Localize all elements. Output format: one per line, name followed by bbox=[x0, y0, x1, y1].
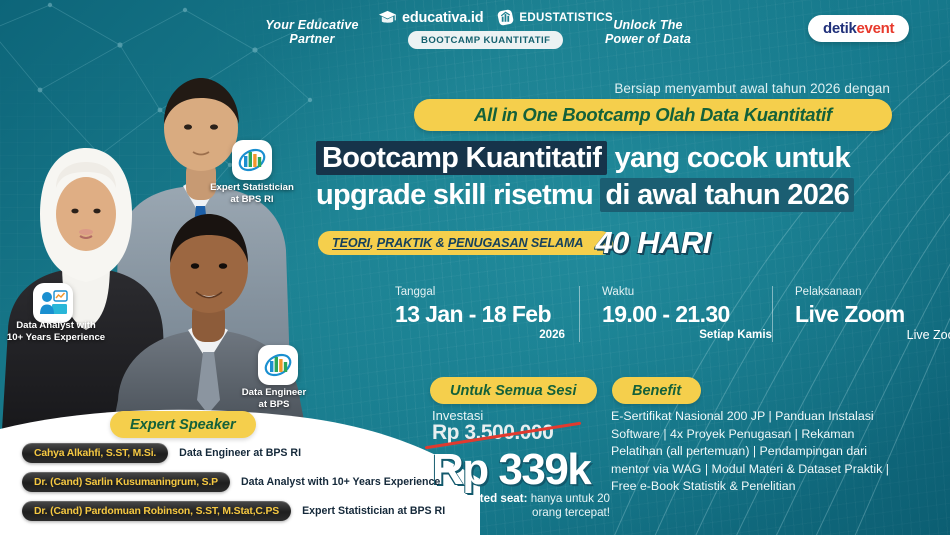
speaker-name: Dr. (Cand) Pardomuan Robinson, S.ST, M.S… bbox=[22, 501, 291, 521]
speaker-list: Cahya Alkahfi, S.ST, M.Si. Data Engineer… bbox=[22, 443, 442, 530]
data-analyst-icon bbox=[33, 283, 73, 323]
info-value-platform: Live Zoom bbox=[795, 301, 950, 327]
bps-logo-glyph bbox=[237, 145, 267, 175]
headline-part-2: yang cocok untuk bbox=[615, 142, 850, 174]
graduation-cap-icon bbox=[378, 8, 397, 27]
duration-sep-2: & bbox=[432, 236, 448, 250]
speaker-role: Expert Statistician at BPS RI bbox=[302, 505, 445, 517]
bps-logo-icon bbox=[258, 345, 298, 385]
speaker-role: Data Analyst with 10+ Years Experience bbox=[241, 476, 440, 488]
poster-header: Your Educative Partner educativa.id bbox=[0, 0, 950, 58]
info-label-platform: Pelaksanaan bbox=[795, 286, 950, 298]
info-value-date: 13 Jan - 18 Feb bbox=[395, 301, 565, 327]
info-sub-time: Setiap Kamis bbox=[602, 328, 772, 341]
speaker-role: Data Engineer at BPS RI bbox=[179, 447, 301, 459]
brand-educativa: educativa.id bbox=[378, 8, 483, 27]
event-info-row: Tanggal 13 Jan - 18 Feb 2026 Waktu 19.00… bbox=[395, 286, 915, 342]
speaker-row: Dr. (Cand) Pardomuan Robinson, S.ST, M.S… bbox=[22, 501, 442, 521]
duration-word-penugasan: PENUGASAN bbox=[448, 236, 528, 250]
new-price: Rp 339k bbox=[432, 445, 590, 495]
duration-selama: SELAMA bbox=[527, 236, 583, 250]
speaker-name: Cahya Alkahfi, S.ST, M.Si. bbox=[22, 443, 168, 463]
info-label-time: Waktu bbox=[602, 286, 772, 298]
speaker-portraits bbox=[0, 0, 380, 430]
info-col-time: Waktu 19.00 - 21.30 Setiap Kamis bbox=[579, 286, 772, 342]
info-sub-date: 2026 bbox=[395, 328, 565, 341]
duration-word-teori: TEORI bbox=[332, 236, 370, 250]
benefit-list: E-Sertifikat Nasional 200 JP | Panduan I… bbox=[611, 408, 903, 496]
limited-seat-note: Limited seat: hanya untuk 20 orang terce… bbox=[430, 492, 610, 520]
speaker-photo-collage: Expert Statisticianat BPS RI Data Analys… bbox=[0, 0, 380, 430]
duration-sep-1: , bbox=[370, 236, 377, 250]
limited-seat-rest: hanya untuk 20 orang tercepat! bbox=[527, 492, 610, 519]
hero-ribbon: All in One Bootcamp Olah Data Kuantitati… bbox=[414, 99, 892, 131]
limited-seat-bold: Limited seat: bbox=[456, 492, 528, 505]
headline-highlight-1: Bootcamp Kuantitatif bbox=[316, 141, 607, 175]
hero-ribbon-label: All in One Bootcamp Olah Data Kuantitati… bbox=[474, 104, 832, 126]
speaker-row: Cahya Alkahfi, S.ST, M.Si. Data Engineer… bbox=[22, 443, 442, 463]
info-col-platform: Pelaksanaan Live Zoom Live Zoom bbox=[772, 286, 950, 342]
data-analyst-glyph bbox=[38, 288, 69, 319]
duration-word-praktik: PRAKTIK bbox=[377, 236, 432, 250]
brand-educativa-label: educativa.id bbox=[402, 10, 483, 26]
info-sub-platform: Live Zoom bbox=[795, 328, 950, 342]
headline-part-3: upgrade skill risetmu bbox=[316, 179, 593, 211]
detikevent-logo: detikevent bbox=[808, 15, 909, 42]
detikevent-part1: detik bbox=[823, 20, 857, 37]
badge-untuk-semua-sesi: Untuk Semua Sesi bbox=[430, 377, 597, 404]
detikevent-part2: event bbox=[857, 20, 895, 37]
info-col-date: Tanggal 13 Jan - 18 Feb 2026 bbox=[395, 286, 579, 342]
bps-logo-glyph bbox=[263, 350, 293, 380]
speaker-row: Dr. (Cand) Sarlin Kusumaningrum, S.P Dat… bbox=[22, 472, 442, 492]
promo-poster: Expert Statisticianat BPS RI Data Analys… bbox=[0, 0, 950, 535]
info-value-time: 19.00 - 21.30 bbox=[602, 301, 772, 327]
headline-highlight-2: di awal tahun 2026 bbox=[600, 178, 854, 212]
badge-benefit: Benefit bbox=[612, 377, 701, 404]
tagline-right: Unlock The Power of Data bbox=[596, 18, 700, 46]
edustatistics-icon bbox=[497, 9, 514, 26]
info-label-date: Tanggal bbox=[395, 286, 565, 298]
hero-kicker: Bersiap menyambut awal tahun 2026 dengan bbox=[420, 81, 890, 96]
badge-expert-speaker: Expert Speaker bbox=[110, 411, 256, 438]
bootcamp-kuantitatif-pill: BOOTCAMP KUANTITATIF bbox=[408, 31, 563, 49]
photo-badge-caption: Data Analyst with10+ Years Experience bbox=[0, 320, 116, 343]
photo-badge-caption: Expert Statisticianat BPS RI bbox=[192, 182, 312, 205]
tagline-left: Your Educative Partner bbox=[252, 18, 372, 46]
bps-logo-icon bbox=[232, 140, 272, 180]
duration-row: TEORI, PRAKTIK & PENUGASAN SELAMA 40 HAR… bbox=[318, 225, 711, 261]
duration-pill: TEORI, PRAKTIK & PENUGASAN SELAMA bbox=[318, 231, 613, 255]
hero-headline: Bootcamp Kuantitatif yang cocok untuk up… bbox=[316, 140, 896, 214]
duration-days: 40 HARI bbox=[595, 225, 710, 261]
speaker-name: Dr. (Cand) Sarlin Kusumaningrum, S.P bbox=[22, 472, 230, 492]
